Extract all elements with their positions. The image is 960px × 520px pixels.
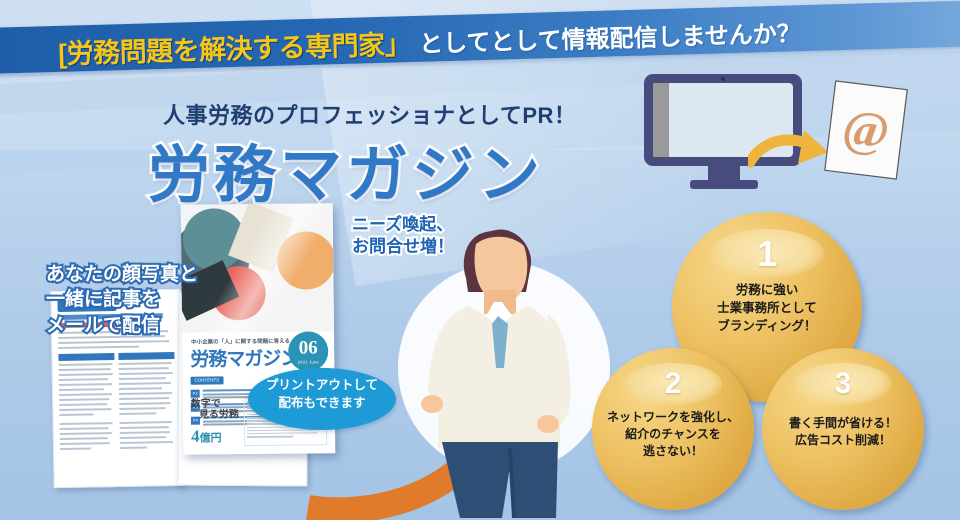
magazine-issue-badge: 06 2021 June — [288, 331, 328, 371]
benefit-badge-3[interactable]: 3 書く手間が省ける！ 広告コスト削減！ — [762, 348, 924, 510]
magazine-stat-label-1: 数字で — [191, 398, 239, 410]
magazine-issue-date: 2021 June — [298, 359, 319, 364]
badge-3-text: 書く手間が省ける！ 広告コスト削減！ — [789, 415, 897, 449]
badge-2-number: 2 — [665, 369, 682, 399]
badge-1-text: 労務に強い 士業事務所として ブランディング！ — [717, 282, 817, 335]
badge-3-line-2: 広告コスト削減！ — [789, 432, 897, 449]
magazine-issue-number: 06 — [299, 338, 318, 357]
badge-3-number: 3 — [835, 369, 852, 399]
magazine-item-num: P2 — [191, 390, 200, 398]
print-bubble-text: プリントアウトして 配布もできます — [248, 376, 396, 412]
magazine-stat-value: 4億円 — [191, 426, 239, 447]
left-callout-line-2: 一緒に記事を — [46, 287, 198, 312]
page-title: 労務マガジン — [148, 124, 544, 214]
sheet-columns — [58, 352, 176, 453]
header-rest-text: としてとして情報配信しませんか？ — [419, 13, 802, 59]
svg-text:@: @ — [840, 98, 893, 159]
mail-at-card-icon: @ — [820, 80, 912, 180]
badge-1-line-2: 士業事務所として — [717, 300, 817, 318]
header-highlight-text: [労務問題を解決する専門家」 — [58, 22, 412, 71]
badge-2-line-1: ネットワークを強化し、 — [607, 409, 739, 426]
badge-2-line-2: 紹介のチャンスを — [607, 426, 739, 443]
badge-3-line-1: 書く手間が省ける！ — [789, 415, 897, 432]
badge-3-number-glow: 3 — [794, 363, 891, 405]
benefit-badge-2[interactable]: 2 ネットワークを強化し、 紹介のチャンスを 逃さない！ — [592, 348, 754, 510]
badge-2-number-glow: 2 — [624, 363, 721, 405]
badge-1-number: 1 — [757, 236, 777, 272]
badge-1-line-1: 労務に強い — [717, 282, 817, 300]
needs-bubble-line-1: ニーズ喚起、 — [352, 214, 454, 236]
magazine-stat-label-2: 見る労務 — [191, 409, 239, 421]
businessman-illustration — [398, 218, 618, 520]
magazine-photo — [181, 203, 334, 333]
badge-2-line-3: 逃さない！ — [607, 443, 739, 460]
banner-root: [労務問題を解決する専門家」 としてとして情報配信しませんか？ 人事労務のプロフ… — [0, 0, 960, 520]
print-bubble-line-1: プリントアウトして — [248, 376, 396, 394]
print-bubble-line-2: 配布もできます — [248, 394, 396, 412]
magazine-contents-label: CONTENTS — [190, 376, 223, 384]
needs-bubble-line-2: お問合せ増！ — [352, 236, 454, 258]
magazine-photo-sheen — [181, 203, 334, 333]
badge-2-text: ネットワークを強化し、 紹介のチャンスを 逃さない！ — [607, 409, 739, 460]
left-callout-line-3: メールで配信 — [46, 313, 198, 338]
badge-1-line-3: ブランディング！ — [717, 318, 817, 336]
needs-bubble-text: ニーズ喚起、 お問合せ増！ — [352, 214, 454, 259]
badge-1-number-glow: 1 — [710, 229, 824, 278]
left-callout-line-1: あなたの顔写真と — [46, 262, 198, 287]
left-callout-text: あなたの顔写真と 一緒に記事を メールで配信 — [46, 262, 198, 338]
